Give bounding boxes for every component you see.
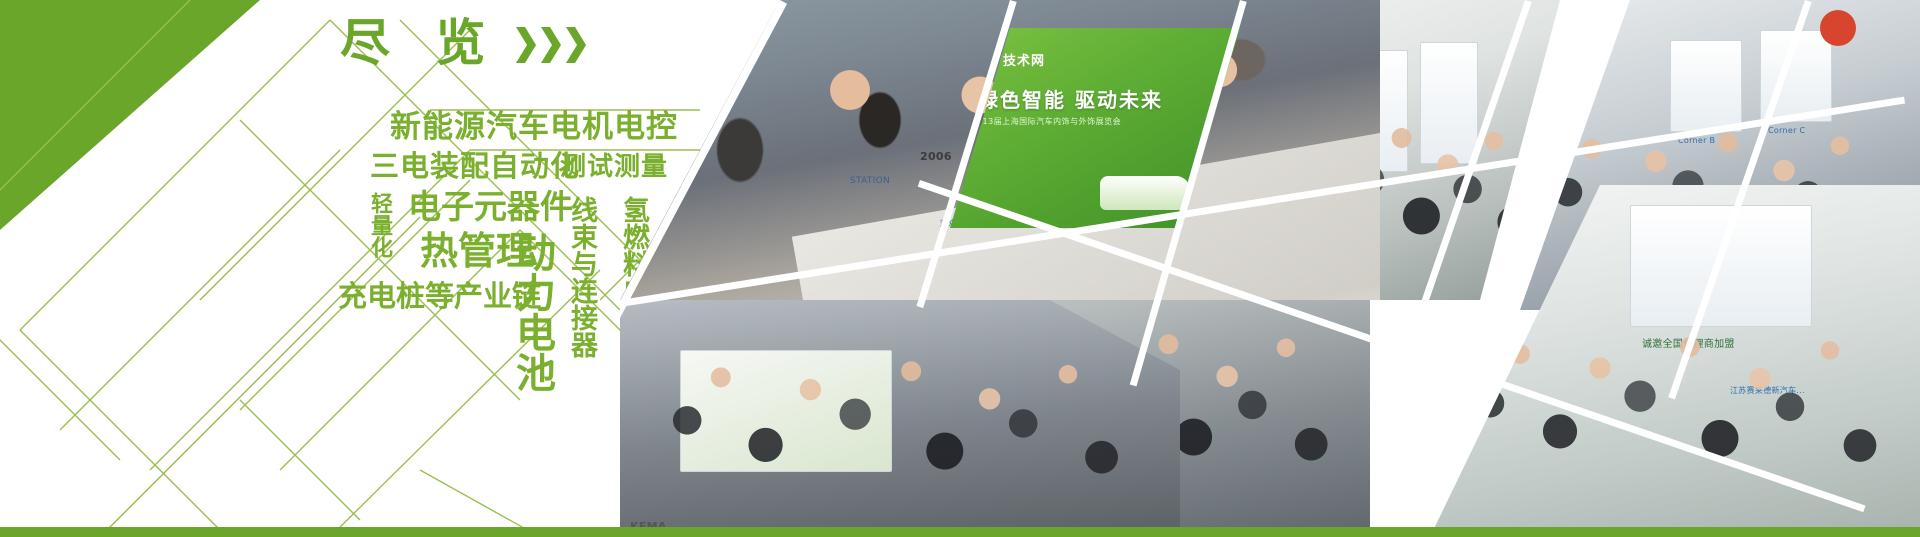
page-title: 尽 览 <box>340 18 499 68</box>
keyword-power-battery: 动力电池 <box>512 232 552 392</box>
car-illustration <box>1100 176 1190 210</box>
booth-sign-year: 2006 <box>920 150 952 163</box>
promo-banner: 尽 览 新能源汽车电机电控 三电装配自动化 测试测量 轻量化 电子元器件 热管理… <box>0 0 1920 537</box>
keyword-electronic-components: 电子元器件 <box>408 190 573 223</box>
triple-chevron-right-icon <box>515 26 587 64</box>
booth-sign-station: STATION <box>850 176 890 186</box>
green-banner-headline: 绿色智能 驱动未来 <box>978 84 1163 113</box>
photo-booth-dealer: 诚邀全国代理商加盟 江苏赛莱德新汽车... <box>1430 185 1920 537</box>
keyword-harness-connector: 线束与连接器 <box>568 196 595 358</box>
photo-collage: Corner B Corner C 诚邀全国代理商加盟 江苏赛莱德新汽车... … <box>620 0 1920 537</box>
green-banner-subline: 第13届上海国际汽车内饰与外饰展览会 <box>974 116 1121 127</box>
bottom-green-bar-full <box>0 527 1920 537</box>
banner-title-row: 尽 览 <box>340 18 587 68</box>
keyword-lightweight: 轻量化 <box>368 192 390 258</box>
keyword-three-electric-assembly-automation: 三电装配自动化 <box>370 152 580 181</box>
crowd-texture <box>1430 185 1920 537</box>
